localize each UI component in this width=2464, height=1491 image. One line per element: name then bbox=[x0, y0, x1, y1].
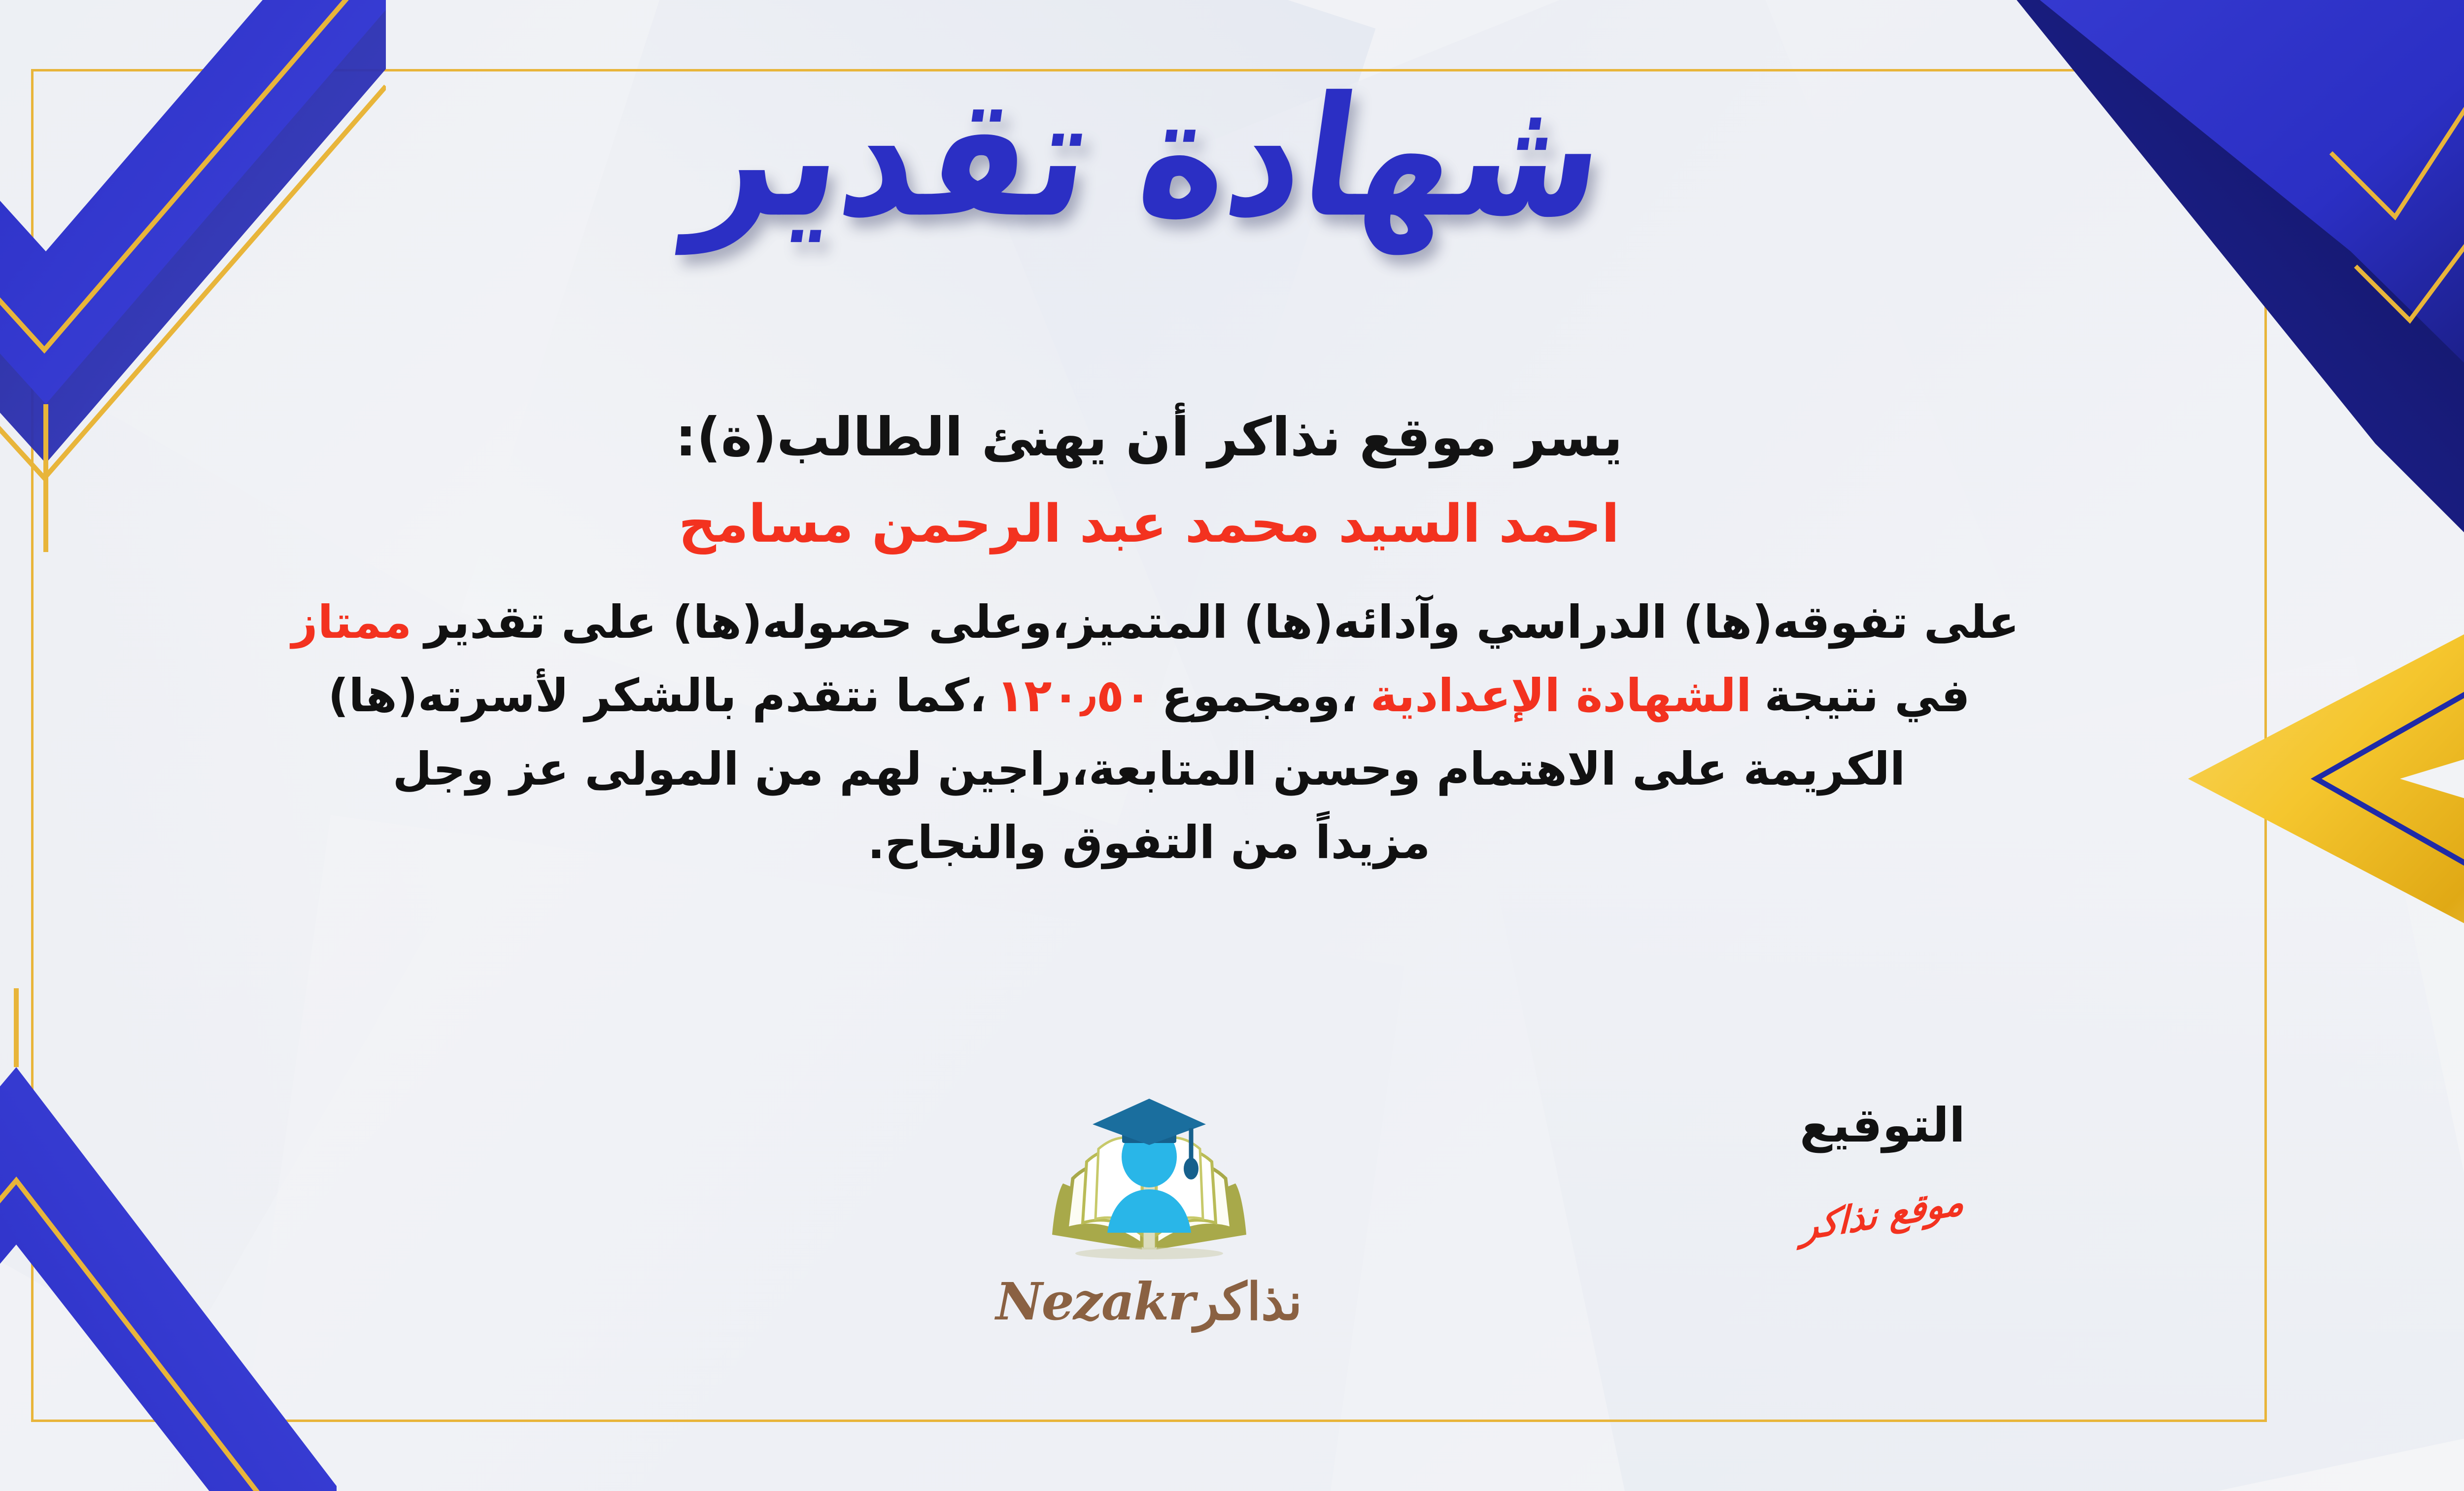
signature-block: التوقيع موقع نذاكر bbox=[1710, 1102, 2055, 1236]
site-logo: نذاكرNezakr bbox=[962, 1087, 1336, 1327]
total-prefix-text: ،ومجموع bbox=[1162, 669, 1358, 722]
achievement-paragraph: على تفوقه(ها) الدراسي وآدائه(ها) المتميز… bbox=[46, 586, 2252, 879]
certificate-title-wrap: شهادة تقدير bbox=[0, 84, 2464, 232]
paragraph-line-1-text: على تفوقه(ها) الدراسي وآدائه(ها) المتميز… bbox=[424, 596, 2019, 649]
graduate-book-icon bbox=[1043, 1087, 1255, 1284]
certificate-document: شهادة تقدير يسر موقع نذاكر أن يهنئ الطال… bbox=[0, 0, 2464, 1491]
signature-label: التوقيع bbox=[1710, 1102, 2055, 1149]
logo-latin-text: Nezakr bbox=[996, 1271, 1195, 1332]
grade-value: ممتاز bbox=[279, 596, 425, 649]
paragraph-line-2: في نتيجةالشهادة الإعدادية،ومجموع١٢٠٫٥٠،ك… bbox=[46, 659, 2252, 732]
logo-arabic-text: نذاكر bbox=[1194, 1271, 1302, 1332]
paragraph-line-1: على تفوقه(ها) الدراسي وآدائه(ها) المتميز… bbox=[46, 586, 2252, 659]
logo-wordmark: نذاكرNezakr bbox=[962, 1276, 1336, 1327]
certificate-title: شهادة تقدير bbox=[684, 75, 1615, 241]
total-score: ١٢٠٫٥٠ bbox=[987, 669, 1162, 722]
paragraph-line-4: مزيداً من التفوق والنجاح. bbox=[46, 806, 2252, 879]
certificate-body: يسر موقع نذاكر أن يهنئ الطالب(ة): احمد ا… bbox=[46, 404, 2252, 879]
student-name: احمد السيد محمد عبد الرحمن مسامح bbox=[46, 491, 2252, 557]
signature-handwriting: موقع نذاكر bbox=[1801, 1180, 1964, 1249]
exam-name: الشهادة الإعدادية bbox=[1358, 669, 1765, 722]
certificate-footer: التوقيع موقع نذاكر bbox=[46, 1102, 2252, 1397]
paragraph-line-3: الكريمة على الاهتمام وحسن المتابعة،راجين… bbox=[46, 732, 2252, 806]
greeting-line: يسر موقع نذاكر أن يهنئ الطالب(ة): bbox=[46, 404, 2252, 471]
exam-prefix-text: في نتيجة bbox=[1764, 669, 1970, 722]
thanks-text: ،كما نتقدم بالشكر لأسرته(ها) bbox=[328, 669, 987, 722]
